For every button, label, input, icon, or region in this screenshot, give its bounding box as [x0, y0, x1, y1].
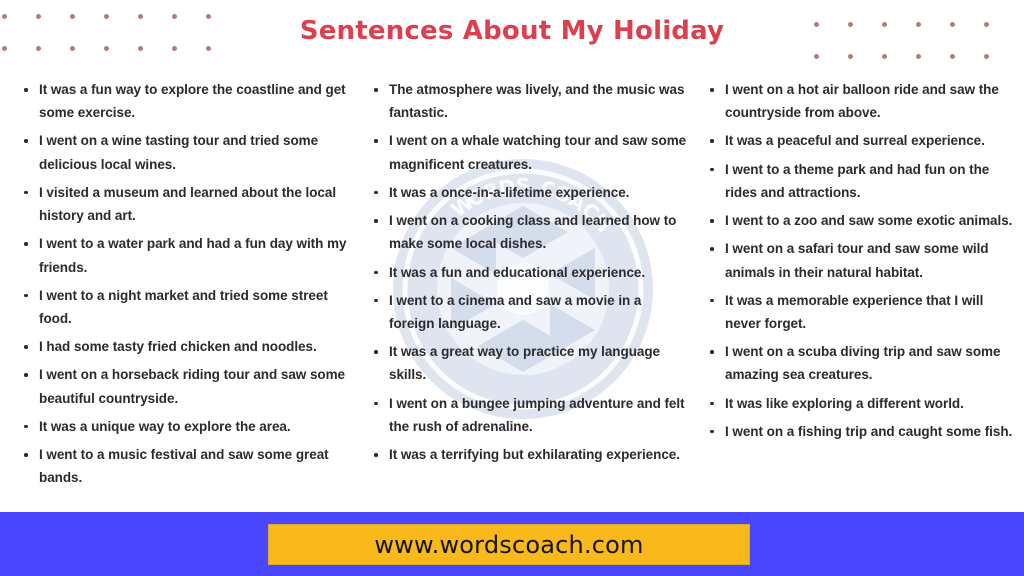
- poster-canvas: W O R D S C O A C H Sentences About My H…: [0, 0, 1024, 576]
- list-item: I went to a music festival and saw some …: [22, 443, 352, 489]
- footer-url-text[interactable]: www.wordscoach.com: [374, 533, 643, 557]
- decorative-dot: [882, 54, 887, 59]
- decorative-dot: [916, 54, 921, 59]
- list-item: I went on a cooking class and learned ho…: [372, 209, 690, 255]
- column-3: I went on a hot air balloon ride and saw…: [700, 78, 1024, 503]
- sentence-list-1: It was a fun way to explore the coastlin…: [22, 78, 352, 490]
- footer-bar: www.wordscoach.com: [0, 512, 1024, 576]
- list-item: It was a fun and educational experience.: [372, 261, 690, 284]
- sentence-list-3: I went on a hot air balloon ride and saw…: [708, 78, 1020, 443]
- list-item: It was a once-in-a-lifetime experience.: [372, 181, 690, 204]
- list-item: It was a unique way to explore the area.: [22, 415, 352, 438]
- list-item: It was like exploring a different world.: [708, 392, 1020, 415]
- list-item: I went to a night market and tried some …: [22, 284, 352, 330]
- list-item: I went on a horseback riding tour and sa…: [22, 363, 352, 409]
- list-item: I went on a safari tour and saw some wil…: [708, 237, 1020, 283]
- list-item: I went to a theme park and had fun on th…: [708, 158, 1020, 204]
- list-item: I went to a cinema and saw a movie in a …: [372, 289, 690, 335]
- list-item: The atmosphere was lively, and the music…: [372, 78, 690, 124]
- list-item: I went on a wine tasting tour and tried …: [22, 129, 352, 175]
- list-item: It was a peaceful and surreal experience…: [708, 129, 1020, 152]
- list-item: It was a great way to practice my langua…: [372, 340, 690, 386]
- decorative-dot: [984, 54, 989, 59]
- column-2: The atmosphere was lively, and the music…: [360, 78, 700, 503]
- page-title-container: Sentences About My Holiday: [0, 16, 1024, 47]
- list-item: I went on a hot air balloon ride and saw…: [708, 78, 1020, 124]
- list-item: I went on a whale watching tour and saw …: [372, 129, 690, 175]
- list-item: It was a terrifying but exhilarating exp…: [372, 443, 690, 466]
- decorative-dot: [848, 54, 853, 59]
- list-item: It was a memorable experience that I wil…: [708, 289, 1020, 335]
- decorative-dot: [814, 54, 819, 59]
- list-item: It was a fun way to explore the coastlin…: [22, 78, 352, 124]
- decorative-dot: [950, 54, 955, 59]
- sentence-list-2: The atmosphere was lively, and the music…: [372, 78, 690, 466]
- footer-url-box[interactable]: www.wordscoach.com: [268, 524, 750, 565]
- page-title: Sentences About My Holiday: [0, 16, 1024, 47]
- column-1: It was a fun way to explore the coastlin…: [0, 78, 360, 503]
- list-item: I went on a scuba diving trip and saw so…: [708, 340, 1020, 386]
- list-item: I went to a zoo and saw some exotic anim…: [708, 209, 1020, 232]
- list-item: I went on a fishing trip and caught some…: [708, 420, 1020, 443]
- list-item: I visited a museum and learned about the…: [22, 181, 352, 227]
- sentence-columns: It was a fun way to explore the coastlin…: [0, 78, 1024, 503]
- list-item: I went on a bungee jumping adventure and…: [372, 392, 690, 438]
- list-item: I went to a water park and had a fun day…: [22, 232, 352, 278]
- list-item: I had some tasty fried chicken and noodl…: [22, 335, 352, 358]
